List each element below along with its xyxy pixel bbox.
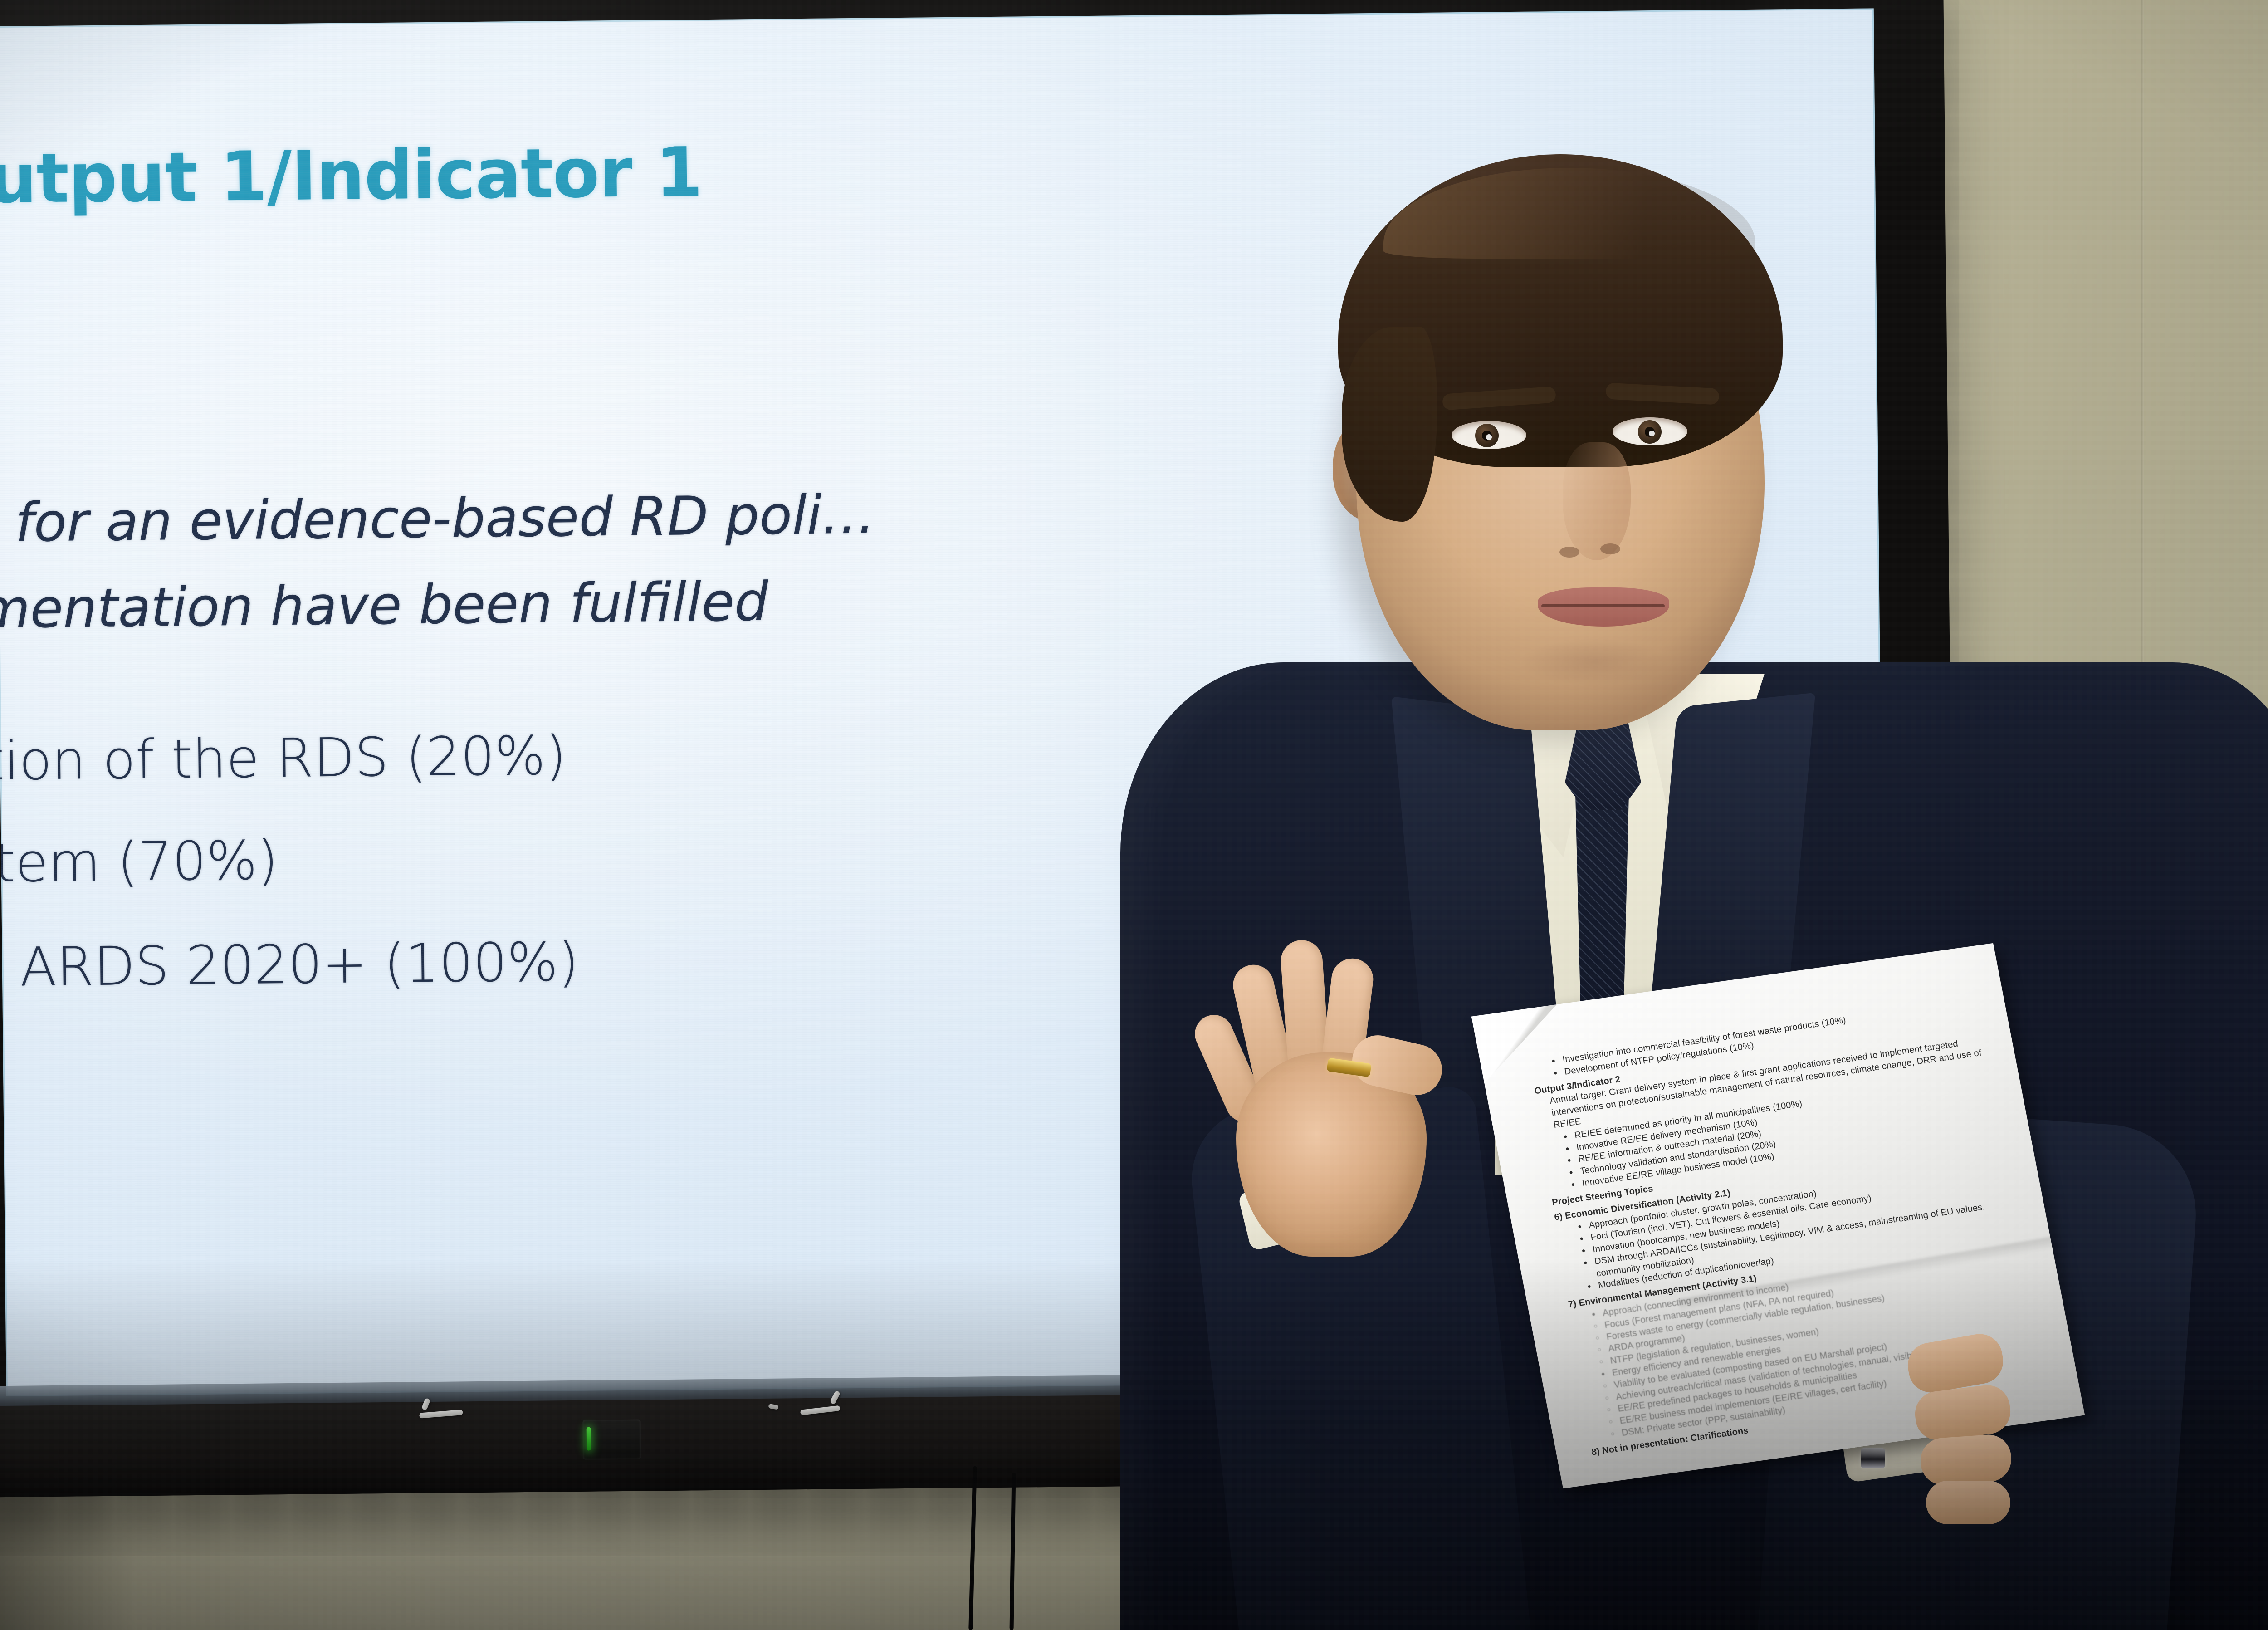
- floor-shadow: [0, 1258, 2268, 1630]
- nostril-left: [1559, 547, 1579, 558]
- slide-line-2: …onditions for an evidence-based RD poli…: [0, 483, 875, 557]
- eye-glint-right: [1649, 431, 1655, 436]
- lip-line: [1541, 604, 1665, 607]
- raised-hand: [1202, 916, 1456, 1261]
- nose: [1563, 442, 1631, 560]
- hair-highlight: [1383, 168, 1755, 259]
- slide-title: Output 1/Indicator 1: [0, 133, 703, 219]
- slide-line-3: …D implementation have been fulfilled: [0, 570, 768, 643]
- slide-line-6: …he new ARDS 2020+ (100%): [0, 930, 579, 1001]
- iris-right: [1638, 420, 1662, 444]
- nostril-right: [1600, 543, 1620, 554]
- iris-left: [1475, 424, 1499, 447]
- pupil-right: [1645, 427, 1655, 437]
- slide-line-5: …&E system (70%): [0, 829, 279, 896]
- slide-line-4: …evaluation of the RDS (20%): [0, 724, 567, 794]
- eye-right: [1613, 417, 1687, 445]
- eye-glint-left: [1486, 434, 1492, 440]
- pupil-left: [1482, 431, 1492, 441]
- chin-shadow: [1488, 635, 1701, 703]
- photo-stage: Output 1/Indicator 1 …get …onditions for…: [0, 0, 2268, 1630]
- eye-left: [1452, 421, 1526, 449]
- necktie-knot: [1565, 719, 1641, 810]
